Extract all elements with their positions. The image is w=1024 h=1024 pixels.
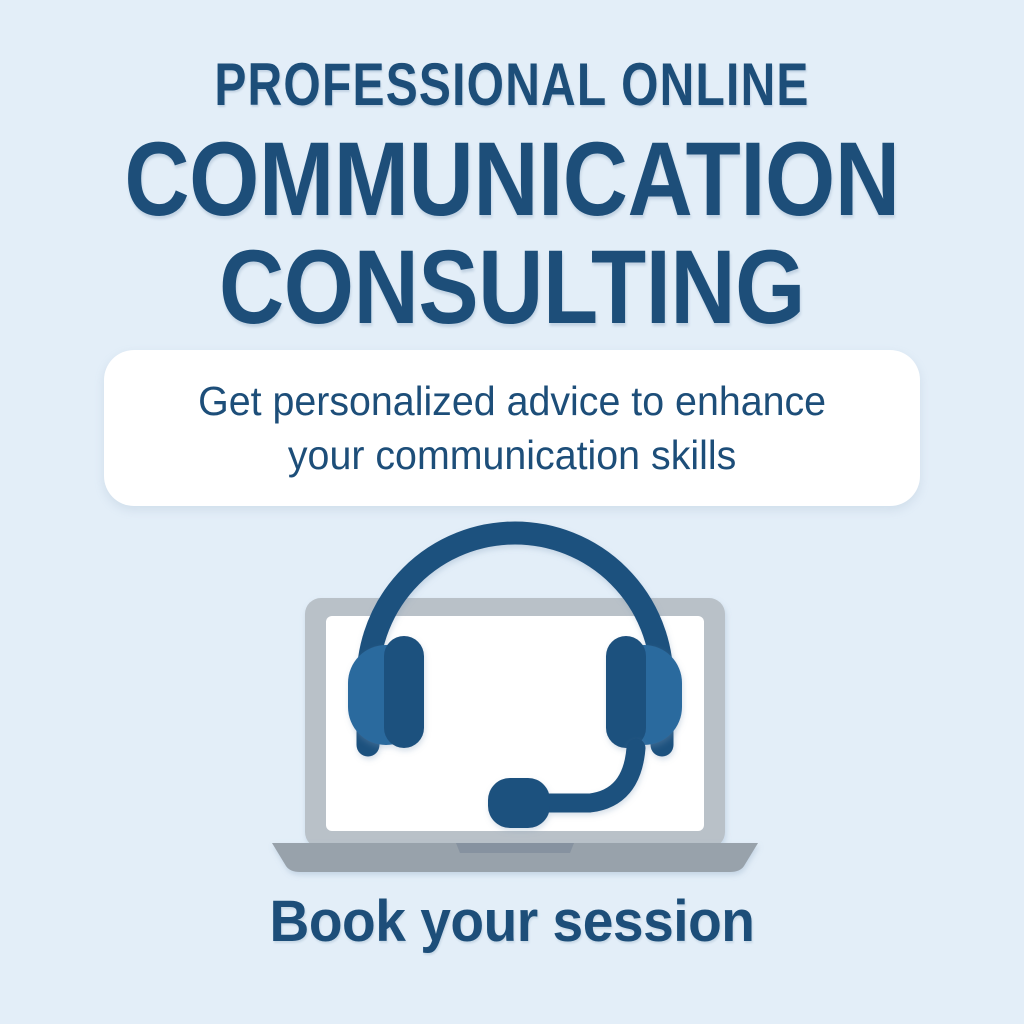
- page-title-line-two: CONSULTING: [72, 236, 953, 340]
- promo-poster: PROFESSIONAL ONLINE COMMUNICATION CONSUL…: [0, 0, 1024, 1024]
- laptop-with-headset-illustration: [260, 510, 770, 882]
- headline-block: PROFESSIONAL ONLINE COMMUNICATION CONSUL…: [0, 52, 1024, 340]
- eyebrow-text: PROFESSIONAL ONLINE: [102, 52, 921, 118]
- subtitle-text: Get personalized advice to enhance your …: [163, 374, 860, 482]
- subtitle-line-one: Get personalized advice to enhance: [198, 378, 826, 424]
- subtitle-line-two: your communication skills: [288, 432, 736, 478]
- page-title-line-one: COMMUNICATION: [72, 128, 953, 232]
- cta-book-session[interactable]: Book your session: [26, 888, 999, 956]
- laptop-base: [272, 843, 758, 872]
- subtitle-card: Get personalized advice to enhance your …: [104, 350, 920, 506]
